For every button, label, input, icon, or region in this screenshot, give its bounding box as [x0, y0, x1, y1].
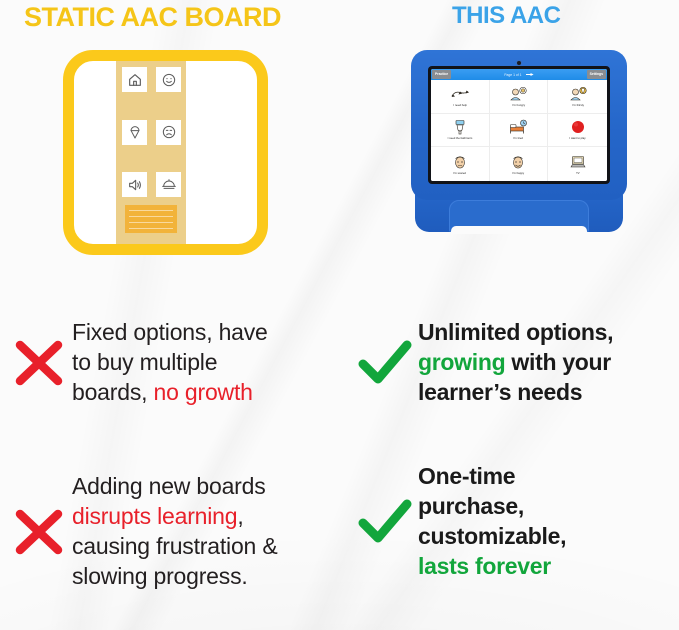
row2-right-highlight: lasts forever — [418, 552, 672, 582]
aac-card-grid: I need help I'm hungry — [431, 80, 607, 181]
tablet-screen: Practice Page 1 of 1 Settings I need hel… — [431, 69, 607, 181]
green-check-icon — [352, 493, 418, 551]
settings-button[interactable]: Settings — [587, 70, 606, 79]
computer-icon — [568, 154, 588, 171]
aac-card-label: I'm tired — [514, 137, 524, 140]
aac-card-label: I need help — [453, 104, 467, 107]
infographic-page: STATIC AAC BOARD THIS AAC — [0, 0, 679, 630]
comparison-row1-right-copy: Unlimited options, growing with your lea… — [418, 318, 672, 408]
thirsty-face-icon — [568, 86, 588, 103]
row2-left-line2-plain: , — [237, 503, 243, 529]
tablet-illustration: Practice Page 1 of 1 Settings I need hel… — [411, 50, 627, 240]
aac-card[interactable]: I want to play — [548, 114, 607, 148]
aac-card-label: I need the bathroom — [448, 137, 473, 140]
home-icon — [122, 67, 147, 92]
row1-right-highlight: growing — [418, 349, 505, 375]
smiley-face-icon — [156, 67, 181, 92]
aac-card[interactable]: I'm thirsty — [548, 80, 607, 114]
row1-right-line2-plain: with your — [505, 349, 611, 375]
comparison-row2-left-copy: Adding new boards disrupts learning, cau… — [72, 472, 336, 592]
app-toolbar: Practice Page 1 of 1 Settings — [431, 69, 607, 80]
happy-face-icon — [508, 154, 528, 171]
aac-card[interactable]: I'm scared — [431, 147, 490, 181]
tablet-case-notch — [451, 226, 587, 234]
comparison-row2-right: One-time purchase, customizable, lasts f… — [352, 462, 672, 582]
row2-right-line2: purchase, — [418, 492, 672, 522]
board-orange-block — [125, 205, 177, 233]
row2-right-line3: customizable, — [418, 522, 672, 552]
aac-card-label: I'm happy — [513, 172, 525, 175]
aac-card-label: I'm thirsty — [572, 104, 584, 107]
comparison-row2-left: Adding new boards disrupts learning, cau… — [6, 472, 336, 592]
static-aac-board-illustration — [63, 50, 268, 255]
help-hands-icon — [450, 86, 470, 103]
aac-card[interactable]: I need the bathroom — [431, 114, 490, 148]
red-circle-icon — [568, 119, 588, 136]
row1-left-highlight: no growth — [154, 379, 253, 405]
sad-face-icon — [156, 120, 181, 145]
aac-card-label: TV — [576, 172, 580, 175]
aac-card[interactable]: I'm hungry — [490, 80, 549, 114]
page-indicator-label: Page 1 of 1 — [504, 73, 521, 77]
row2-left-highlight: disrupts learning — [72, 503, 237, 529]
red-x-icon — [6, 504, 72, 560]
row2-left-line2: disrupts learning, — [72, 502, 336, 532]
hungry-face-icon — [508, 86, 528, 103]
row2-left-line4: slowing progress. — [72, 562, 336, 592]
row1-left-line2: to buy multiple — [72, 348, 336, 378]
aac-card-label: I want to play — [570, 137, 586, 140]
bed-clock-icon — [508, 119, 528, 136]
aac-card-label: I'm scared — [454, 172, 467, 175]
page-indicator: Page 1 of 1 — [504, 73, 533, 77]
comparison-row1-right: Unlimited options, growing with your lea… — [352, 318, 672, 408]
row1-right-line1: Unlimited options, — [418, 318, 672, 348]
heading-static-aac-board: STATIC AAC BOARD — [24, 2, 281, 33]
row2-left-line3: causing frustration & — [72, 532, 336, 562]
row1-left-line1: Fixed options, have — [72, 318, 336, 348]
toilet-icon — [450, 119, 470, 136]
aac-card[interactable]: I'm tired — [490, 114, 549, 148]
red-x-icon — [6, 335, 72, 391]
practice-button[interactable]: Practice — [432, 70, 451, 79]
comparison-row1-left: Fixed options, have to buy multiple boar… — [6, 318, 336, 408]
speaker-icon — [122, 172, 147, 197]
arrow-right-icon[interactable] — [526, 73, 534, 76]
food-dome-icon — [156, 172, 181, 197]
row1-left-line3: boards, no growth — [72, 378, 336, 408]
comparison-row1-left-copy: Fixed options, have to buy multiple boar… — [72, 318, 336, 408]
row1-right-line3: learner’s needs — [418, 378, 672, 408]
board-tile-grid — [122, 67, 181, 197]
row2-left-line1: Adding new boards — [72, 472, 336, 502]
aac-card-label: I'm hungry — [512, 104, 525, 107]
row1-right-line2: growing with your — [418, 348, 672, 378]
green-check-icon — [352, 334, 418, 392]
aac-card[interactable]: I need help — [431, 80, 490, 114]
heading-this-aac: THIS AAC — [452, 2, 560, 30]
scared-face-icon — [450, 154, 470, 171]
row1-left-line3-plain: boards, — [72, 379, 154, 405]
ice-cream-icon — [122, 120, 147, 145]
aac-card[interactable]: I'm happy — [490, 147, 549, 181]
row2-right-line1: One-time — [418, 462, 672, 492]
aac-card[interactable]: TV — [548, 147, 607, 181]
comparison-row2-right-copy: One-time purchase, customizable, lasts f… — [418, 462, 672, 582]
